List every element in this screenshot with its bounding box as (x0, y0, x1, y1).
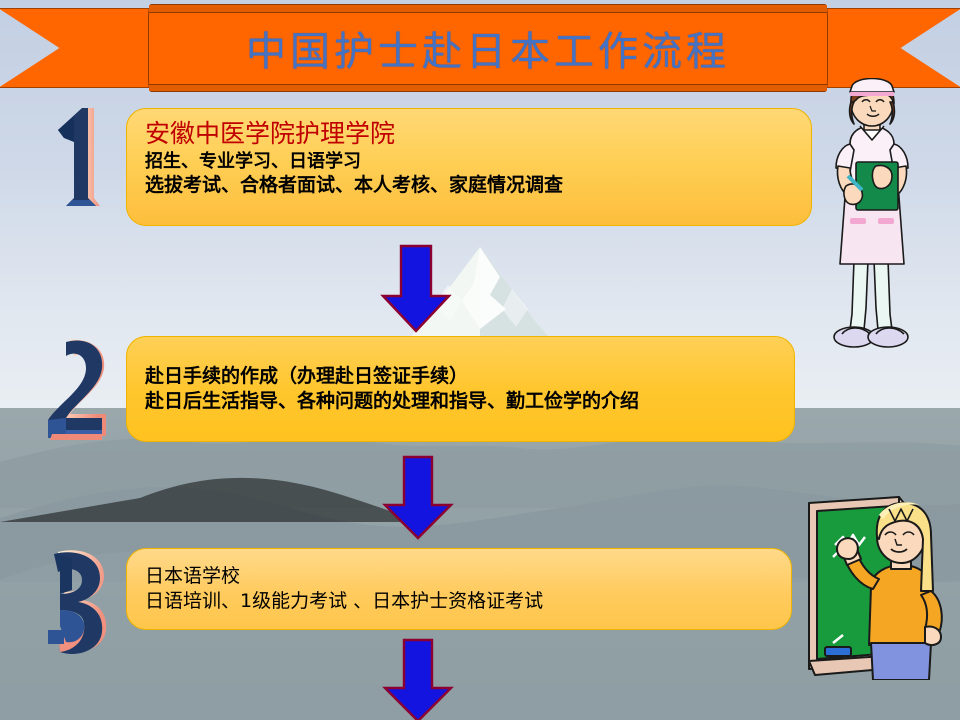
nurse-with-clipboard-illustration (812, 78, 932, 353)
step2-line-1: 赴日手续的作成（办理赴日签证手续） (145, 364, 780, 389)
step-marker-1 (44, 102, 118, 210)
step-box-3: 日本语学校 日语培训、1级能力考试 、日本护士资格证考试 (126, 548, 792, 630)
step-box-1: 安徽中医学院护理学院 招生、专业学习、日语学习 选拔考试、合格者面试、本人考核、… (126, 108, 812, 226)
step1-line-1: 安徽中医学院护理学院 (145, 119, 797, 150)
step3-line-1: 日本语学校 (145, 564, 777, 589)
teacher-at-chalkboard-illustration (795, 495, 960, 680)
step3-line-2: 日语培训、1级能力考试 、日本护士资格证考试 (145, 589, 777, 614)
slide-canvas: 中国护士赴日本工作流程 (0, 0, 960, 720)
page-title: 中国护士赴日本工作流程 (246, 19, 730, 77)
flow-arrow-1-to-2 (379, 244, 453, 334)
step1-line-3: 选拔考试、合格者面试、本人考核、家庭情况调查 (145, 173, 797, 198)
ribbon-center-panel: 中国护士赴日本工作流程 (148, 4, 828, 92)
step-marker-3 (42, 546, 122, 658)
step-marker-2 (40, 334, 120, 444)
flow-arrow-2-to-3 (381, 455, 455, 541)
flow-arrow-3-to-next (381, 638, 455, 720)
step2-line-2: 赴日后生活指导、各种问题的处理和指导、勤工俭学的介绍 (145, 389, 780, 414)
step-box-2: 赴日手续的作成（办理赴日签证手续） 赴日后生活指导、各种问题的处理和指导、勤工俭… (126, 336, 795, 442)
step1-line-2: 招生、专业学习、日语学习 (145, 150, 797, 173)
